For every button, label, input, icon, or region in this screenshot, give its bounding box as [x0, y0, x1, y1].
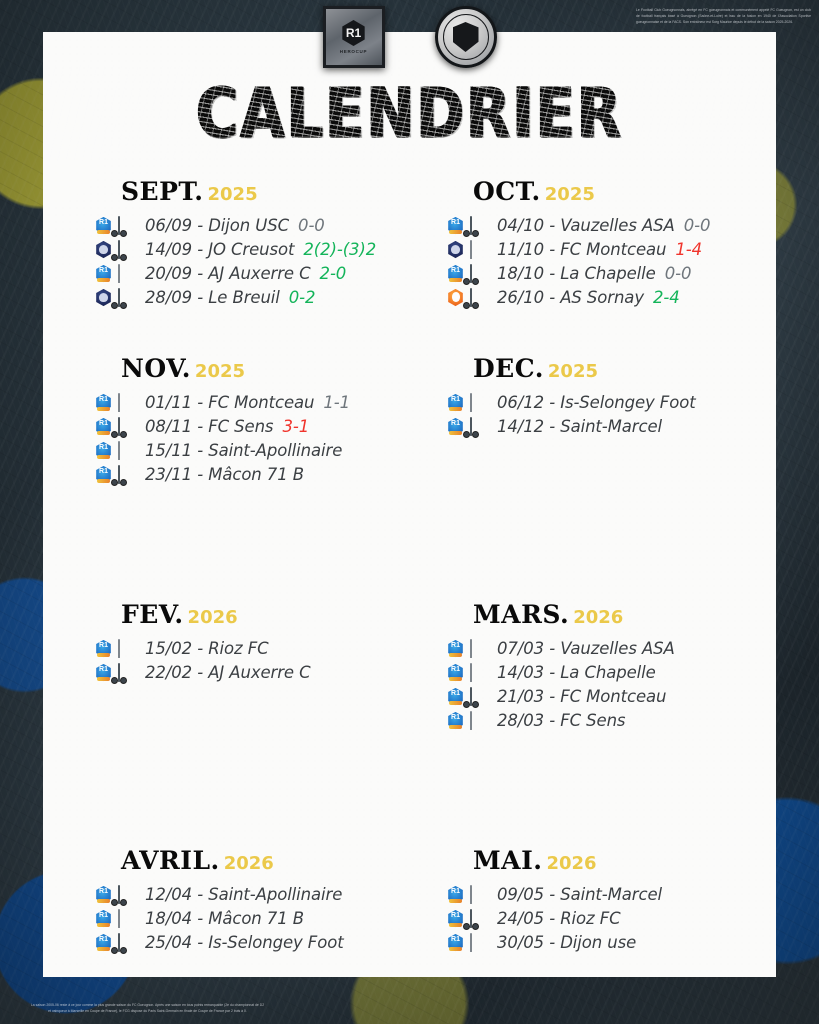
month-name: MAI. — [473, 846, 542, 875]
stadium-icon — [118, 640, 139, 657]
match-label: 15/11 - Saint-Apollinaire — [145, 441, 342, 460]
stadium-icon — [118, 394, 139, 411]
month-heading-mars: MARS.2026 — [473, 600, 776, 629]
match-label: 26/10 - AS Sornay — [497, 288, 644, 307]
r1-badge-icon — [447, 688, 464, 706]
match-score: 1-1 — [323, 393, 350, 412]
match-label: 08/11 - FC Sens — [145, 417, 273, 436]
r1-badge-icon — [95, 217, 112, 235]
stadium-icon — [470, 886, 491, 903]
match-score: 0-0 — [684, 216, 711, 235]
stadium-icon — [118, 442, 139, 459]
r1-badge-icon — [95, 418, 112, 436]
r1-badge-icon — [95, 934, 112, 952]
cdf-badge-icon — [447, 241, 464, 259]
match-label: 30/05 - Dijon use — [497, 933, 636, 952]
match-row[interactable]: 20/09 - AJ Auxerre C2-0 — [95, 264, 431, 283]
month-block-dec: DEC.202506/12 - Is-Selongey Foot14/12 - … — [431, 354, 776, 495]
match-label: 18/04 - Mâcon 71 B — [145, 909, 304, 928]
match-label: 06/09 - Dijon USC — [145, 216, 289, 235]
match-label: 14/03 - La Chapelle — [497, 663, 656, 682]
month-block-nov: NOV.202501/11 - FC Montceau1-108/11 - FC… — [81, 354, 431, 495]
match-score: 2(2)-(3)2 — [303, 240, 376, 259]
stadium-icon — [470, 712, 491, 729]
match-label: 15/02 - Rioz FC — [145, 639, 269, 658]
match-row[interactable]: 23/11 - Mâcon 71 B — [95, 465, 431, 484]
match-row[interactable]: 21/03 - FC Montceau — [447, 687, 776, 706]
match-row[interactable]: 08/11 - FC Sens3-1 — [95, 417, 431, 436]
match-label: 14/09 - JO Creusot — [145, 240, 294, 259]
r1-herocup-logo: R1 HEROCUP — [323, 6, 385, 68]
bus-icon — [118, 934, 139, 951]
match-row[interactable]: 04/10 - Vauzelles ASA0-0 — [447, 216, 776, 235]
match-row[interactable]: 28/03 - FC Sens — [447, 711, 776, 730]
match-score: 2-4 — [653, 288, 680, 307]
month-block-mars: MARS.202607/03 - Vauzelles ASA14/03 - La… — [431, 600, 776, 741]
month-year: 2026 — [188, 607, 238, 628]
match-score: 1-4 — [675, 240, 702, 259]
match-row[interactable]: 30/05 - Dijon use — [447, 933, 776, 952]
r1-badge-icon — [95, 910, 112, 928]
match-label: 25/04 - Is-Selongey Foot — [145, 933, 344, 952]
match-label: 07/03 - Vauzelles ASA — [497, 639, 675, 658]
stadium-icon — [118, 265, 139, 282]
month-name: DEC. — [473, 354, 544, 383]
match-label: 24/05 - Rioz FC — [497, 909, 621, 928]
cup-badge-icon — [447, 289, 464, 307]
r1-badge-icon — [95, 394, 112, 412]
match-label: 01/11 - FC Montceau — [145, 393, 314, 412]
match-row[interactable]: 09/05 - Saint-Marcel — [447, 885, 776, 904]
match-label: 28/09 - Le Breuil — [145, 288, 280, 307]
match-label: 14/12 - Saint-Marcel — [497, 417, 662, 436]
paper-sheet: CALENDRIER SEPT.202506/09 - Dijon USC0-0… — [43, 32, 776, 977]
month-heading-avril: AVRIL.2026 — [121, 846, 431, 875]
month-name: NOV. — [121, 354, 191, 383]
bus-icon — [470, 688, 491, 705]
match-row[interactable]: 18/10 - La Chapelle0-0 — [447, 264, 776, 283]
match-row[interactable]: 22/02 - AJ Auxerre C — [95, 663, 431, 682]
r1-badge-icon — [95, 886, 112, 904]
month-heading-sept: SEPT.2025 — [121, 177, 431, 206]
club-crest-logo — [435, 6, 497, 68]
bus-icon — [470, 289, 491, 306]
match-row[interactable]: 15/02 - Rioz FC — [95, 639, 431, 658]
match-row[interactable]: 26/10 - AS Sornay2-4 — [447, 288, 776, 307]
r1-badge-icon — [447, 664, 464, 682]
r1-badge-icon — [95, 442, 112, 460]
stadium-icon — [118, 910, 139, 927]
month-block-oct: OCT.202504/10 - Vauzelles ASA0-011/10 - … — [431, 177, 776, 318]
club-description-text: Le Football Club Gueugnonnais, abrégé en… — [636, 8, 811, 26]
calendar-poster: R1 HEROCUP Le Football Club Gueugnonnais… — [0, 0, 819, 1024]
r1-badge-icon — [95, 466, 112, 484]
r1-badge-icon — [447, 265, 464, 283]
r1-badge-icon — [447, 934, 464, 952]
month-year: 2025 — [545, 184, 595, 205]
match-label: 22/02 - AJ Auxerre C — [145, 663, 311, 682]
r1-badge-icon — [447, 640, 464, 658]
match-label: 21/03 - FC Montceau — [497, 687, 666, 706]
r1-badge-icon — [447, 886, 464, 904]
bus-icon — [118, 289, 139, 306]
r1-badge-icon — [447, 394, 464, 412]
match-row[interactable]: 18/04 - Mâcon 71 B — [95, 909, 431, 928]
month-year: 2025 — [548, 361, 598, 382]
match-row[interactable]: 12/04 - Saint-Apollinaire — [95, 885, 431, 904]
match-row[interactable]: 14/09 - JO Creusot2(2)-(3)2 — [95, 240, 431, 259]
month-heading-mai: MAI.2026 — [473, 846, 776, 875]
match-row[interactable]: 15/11 - Saint-Apollinaire — [95, 441, 431, 460]
month-block-sept: SEPT.202506/09 - Dijon USC0-0 14/09 - JO… — [81, 177, 431, 318]
month-year: 2025 — [208, 184, 258, 205]
stadium-icon — [470, 934, 491, 951]
month-year: 2026 — [573, 607, 623, 628]
match-row[interactable]: 06/09 - Dijon USC0-0 — [95, 216, 431, 235]
stadium-icon — [470, 664, 491, 681]
bus-icon — [118, 664, 139, 681]
crest-shield-icon — [453, 22, 479, 52]
match-label: 11/10 - FC Montceau — [497, 240, 666, 259]
match-score: 0-2 — [289, 288, 316, 307]
r1-sublabel: HEROCUP — [340, 49, 367, 54]
month-name: FEV. — [121, 600, 184, 629]
month-name: OCT. — [473, 177, 541, 206]
bus-icon — [470, 265, 491, 282]
bus-icon — [118, 886, 139, 903]
match-score: 2-0 — [320, 264, 347, 283]
month-block-avril: AVRIL.202612/04 - Saint-Apollinaire18/04… — [81, 846, 431, 963]
r1-badge-icon — [95, 664, 112, 682]
month-name: MARS. — [473, 600, 569, 629]
stadium-icon — [470, 394, 491, 411]
match-label: 28/03 - FC Sens — [497, 711, 625, 730]
match-score: 3-1 — [282, 417, 309, 436]
match-row[interactable]: 28/09 - Le Breuil0-2 — [95, 288, 431, 307]
match-score: 0-0 — [665, 264, 692, 283]
match-label: 04/10 - Vauzelles ASA — [497, 216, 675, 235]
match-label: 09/05 - Saint-Marcel — [497, 885, 662, 904]
match-row[interactable]: 25/04 - Is-Selongey Foot — [95, 933, 431, 952]
match-row[interactable]: 11/10 - FC Montceau1-4 — [447, 240, 776, 259]
cdf-badge-icon — [95, 289, 112, 307]
match-row[interactable]: 01/11 - FC Montceau1-1 — [95, 393, 431, 412]
r1-badge-icon — [447, 217, 464, 235]
bus-icon — [470, 910, 491, 927]
match-score: 0-0 — [298, 216, 325, 235]
stadium-icon — [470, 241, 491, 258]
bus-icon — [118, 241, 139, 258]
month-name: SEPT. — [121, 177, 204, 206]
match-row[interactable]: 14/03 - La Chapelle — [447, 663, 776, 682]
r1-badge-icon — [447, 418, 464, 436]
month-year: 2026 — [224, 853, 274, 874]
r1-badge-icon — [447, 712, 464, 730]
month-heading-oct: OCT.2025 — [473, 177, 776, 206]
bus-icon — [470, 217, 491, 234]
month-year: 2025 — [195, 361, 245, 382]
month-heading-nov: NOV.2025 — [121, 354, 431, 383]
months-grid: SEPT.202506/09 - Dijon USC0-0 14/09 - JO… — [43, 177, 776, 963]
match-row[interactable]: 07/03 - Vauzelles ASA — [447, 639, 776, 658]
month-block-fev: FEV.202615/02 - Rioz FC22/02 - AJ Auxerr… — [81, 600, 431, 741]
match-label: 18/10 - La Chapelle — [497, 264, 656, 283]
month-name: AVRIL. — [121, 846, 220, 875]
match-row[interactable]: 24/05 - Rioz FC — [447, 909, 776, 928]
club-history-text: La saison 2005-06 reste à ce jour comme … — [30, 1003, 265, 1015]
month-year: 2026 — [546, 853, 596, 874]
stadium-icon — [470, 640, 491, 657]
bus-icon — [118, 466, 139, 483]
match-row[interactable]: 06/12 - Is-Selongey Foot — [447, 393, 776, 412]
r1-hex-icon: R1 — [341, 20, 367, 46]
r1-badge-icon — [447, 910, 464, 928]
r1-badge-icon — [95, 265, 112, 283]
month-heading-fev: FEV.2026 — [121, 600, 431, 629]
bus-icon — [118, 217, 139, 234]
cdf-badge-icon — [95, 241, 112, 259]
bus-icon — [470, 418, 491, 435]
match-label: 06/12 - Is-Selongey Foot — [497, 393, 696, 412]
match-row[interactable]: 14/12 - Saint-Marcel — [447, 417, 776, 436]
match-label: 20/09 - AJ Auxerre C — [145, 264, 311, 283]
bus-icon — [118, 418, 139, 435]
month-block-mai: MAI.202609/05 - Saint-Marcel24/05 - Rioz… — [431, 846, 776, 963]
month-heading-dec: DEC.2025 — [473, 354, 776, 383]
match-label: 23/11 - Mâcon 71 B — [145, 465, 304, 484]
match-label: 12/04 - Saint-Apollinaire — [145, 885, 342, 904]
page-title: CALENDRIER — [47, 73, 773, 153]
r1-badge-icon — [95, 640, 112, 658]
